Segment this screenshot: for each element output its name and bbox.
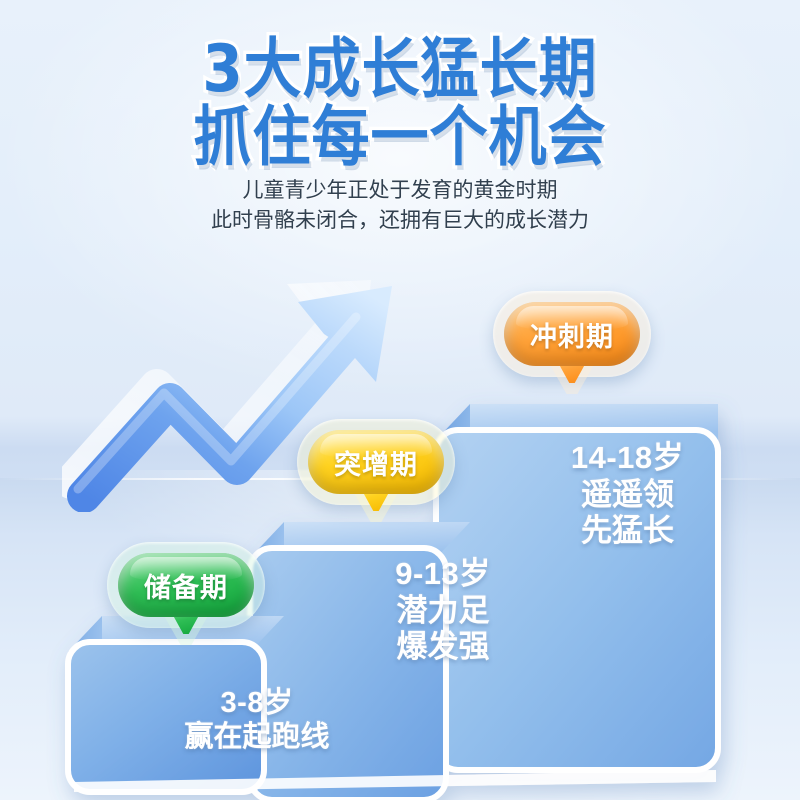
subtitle: 儿童青少年正处于发育的黄金时期 此时骨骼未闭合，还拥有巨大的成长潜力 — [0, 176, 800, 236]
headline-line-1: 3大成长猛长期 — [0, 34, 800, 103]
stage-3-badge-label: 冲刺期 — [530, 315, 614, 354]
page-title: 3大成长猛长期 抓住每一个机会 — [0, 34, 800, 164]
growth-stages-poster: 3大成长猛长期 抓住每一个机会 儿童青少年正处于发育的黄金时期 此时骨骼未闭合，… — [0, 0, 800, 800]
subtitle-line-1: 儿童青少年正处于发育的黄金时期 — [0, 176, 800, 206]
stage-1-badge[interactable]: 储备期 — [118, 553, 254, 617]
headline-line-2: 抓住每一个机会 — [0, 102, 800, 171]
stage-1-badge-core: 储备期 — [118, 553, 254, 617]
stage-2-badge-core: 突增期 — [308, 430, 444, 494]
stage-3-badge[interactable]: 冲刺期 — [504, 302, 640, 366]
stage-2-badge[interactable]: 突增期 — [308, 430, 444, 494]
stage-1-badge-label: 储备期 — [144, 566, 228, 605]
stage-3-badge-core: 冲刺期 — [504, 302, 640, 366]
subtitle-line-2: 此时骨骼未闭合，还拥有巨大的成长潜力 — [0, 206, 800, 236]
stage-2-badge-label: 突增期 — [334, 443, 418, 482]
